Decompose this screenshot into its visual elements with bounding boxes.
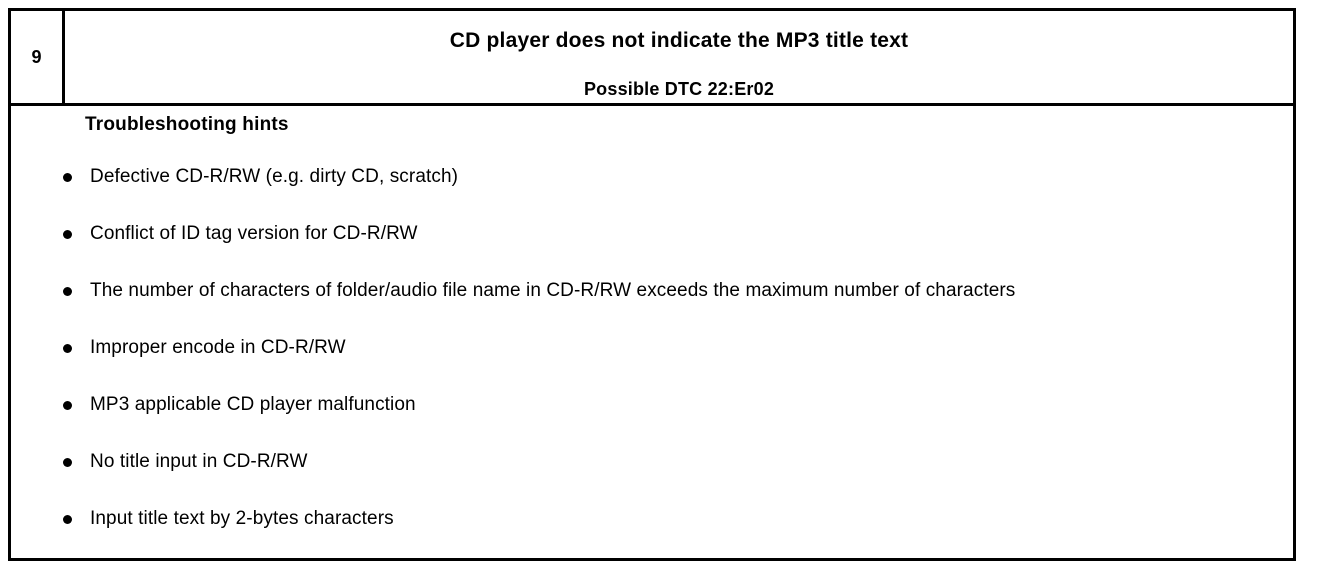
- list-item: Conflict of ID tag version for CD-R/RW: [11, 219, 1293, 249]
- list-item-label: The number of characters of folder/audio…: [90, 276, 1253, 306]
- troubleshooting-table: 9 CD player does not indicate the MP3 ti…: [8, 8, 1296, 561]
- list-item: No title input in CD-R/RW: [11, 447, 1293, 477]
- list-item-label: Defective CD-R/RW (e.g. dirty CD, scratc…: [90, 162, 1253, 192]
- list-item: Input title text by 2-bytes characters: [11, 504, 1293, 534]
- bullet-icon: [63, 515, 72, 524]
- bullet-icon: [63, 458, 72, 467]
- list-item: MP3 applicable CD player malfunction: [11, 390, 1293, 420]
- symptom-header-cell: CD player does not indicate the MP3 titl…: [64, 10, 1295, 105]
- bullet-icon: [63, 287, 72, 296]
- list-item: The number of characters of folder/audio…: [11, 276, 1293, 306]
- hints-container: Troubleshooting hints Defective CD-R/RW …: [11, 106, 1293, 558]
- possible-dtc: Possible DTC 22:Er02: [65, 80, 1293, 98]
- bullet-icon: [63, 230, 72, 239]
- bullet-icon: [63, 173, 72, 182]
- row-number-cell: 9: [10, 10, 64, 105]
- table-body-row: Troubleshooting hints Defective CD-R/RW …: [10, 105, 1295, 560]
- bullet-icon: [63, 401, 72, 410]
- bullet-icon: [63, 344, 72, 353]
- hint-list: Defective CD-R/RW (e.g. dirty CD, scratc…: [11, 162, 1293, 561]
- list-item-label: No title input in CD-R/RW: [90, 447, 1253, 477]
- list-item: Defective CD-R/RW (e.g. dirty CD, scratc…: [11, 162, 1293, 192]
- list-item-label: Input title text by 2-bytes characters: [90, 504, 1253, 534]
- table-header-row: 9 CD player does not indicate the MP3 ti…: [10, 10, 1295, 105]
- symptom-title: CD player does not indicate the MP3 titl…: [65, 30, 1293, 51]
- list-item-label: Conflict of ID tag version for CD-R/RW: [90, 219, 1253, 249]
- list-item-label: Improper encode in CD-R/RW: [90, 333, 1253, 363]
- list-item-label: MP3 applicable CD player malfunction: [90, 390, 1253, 420]
- document-page: 9 CD player does not indicate the MP3 ti…: [0, 0, 1328, 568]
- list-item: Improper encode in CD-R/RW: [11, 333, 1293, 363]
- hints-cell: Troubleshooting hints Defective CD-R/RW …: [10, 105, 1295, 560]
- troubleshooting-hints-heading: Troubleshooting hints: [85, 115, 289, 134]
